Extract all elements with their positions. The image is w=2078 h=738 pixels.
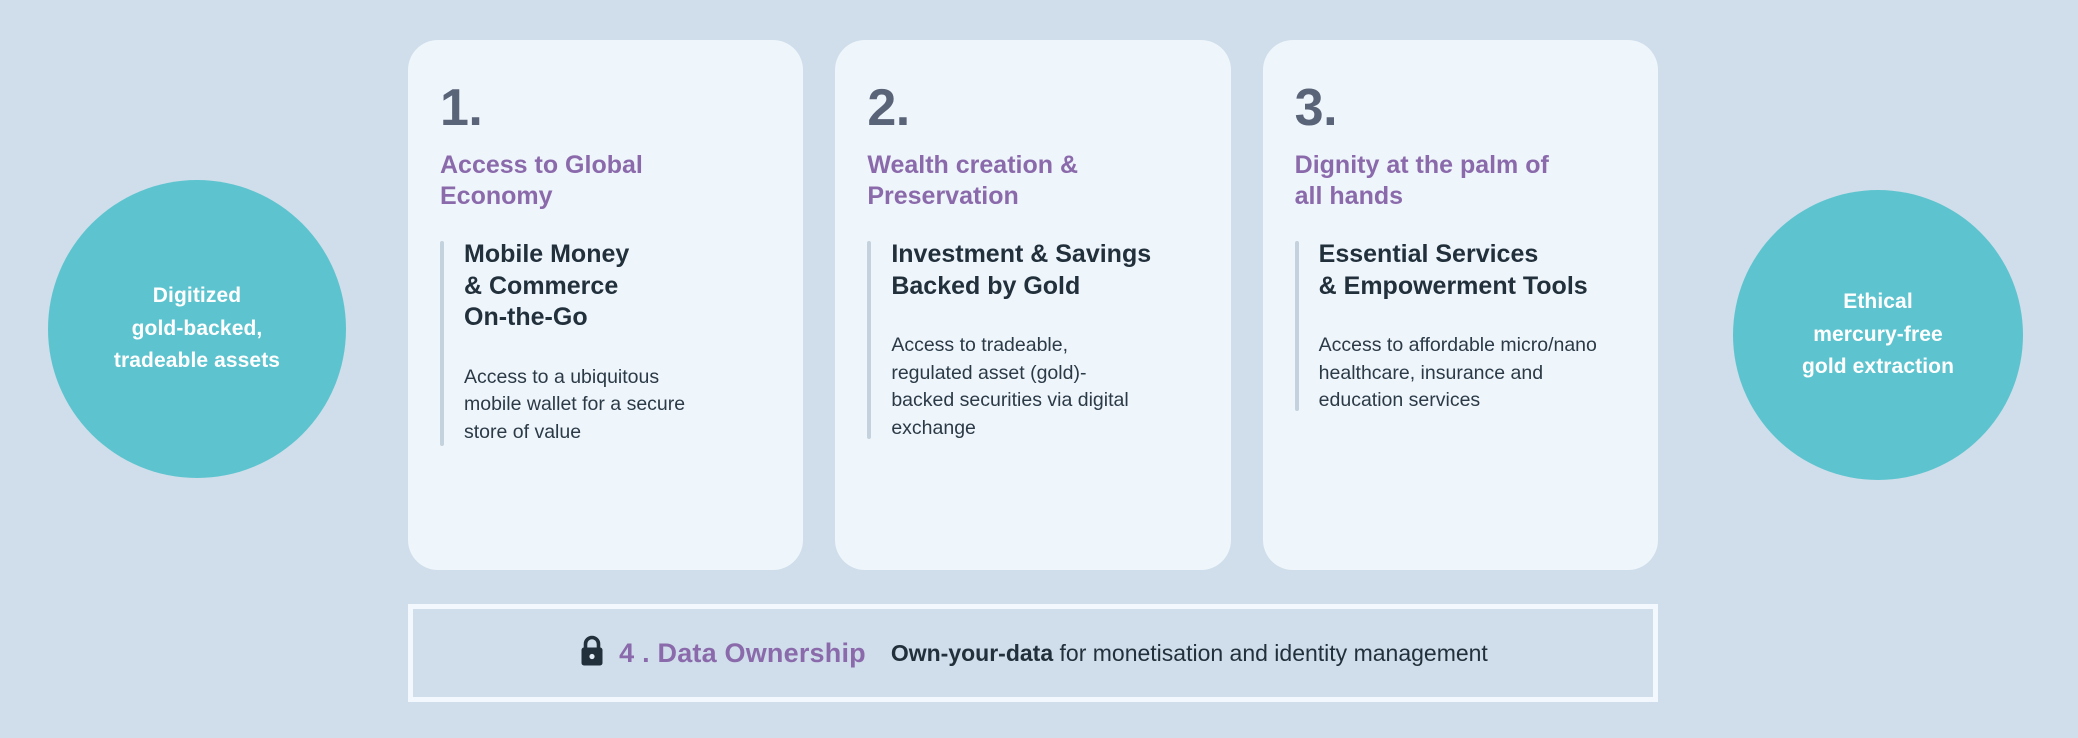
card-title: Access to Global Economy bbox=[440, 150, 767, 211]
card-body-description: Access to a ubiquitous mobile wallet for… bbox=[464, 364, 767, 447]
card-body-heading: Investment & Savings Backed by Gold bbox=[891, 239, 1194, 302]
data-ownership-text: Own-your-data for monetisation and ident… bbox=[891, 640, 1488, 667]
data-ownership-bar[interactable]: 4 . Data Ownership Own-your-data for mon… bbox=[408, 604, 1658, 702]
card-number: 2. bbox=[867, 82, 1194, 134]
card-body-description: Access to affordable micro/nano healthca… bbox=[1319, 332, 1622, 415]
left-circle-text: Digitized gold-backed, tradeable assets bbox=[114, 280, 280, 378]
vertical-accent-bar bbox=[867, 241, 871, 439]
pillar-card-3[interactable]: 3. Dignity at the palm of all hands Esse… bbox=[1263, 40, 1658, 570]
card-body: Investment & Savings Backed by Gold Acce… bbox=[867, 239, 1194, 443]
right-highlight-circle: Ethical mercury-free gold extraction bbox=[1733, 190, 2023, 480]
card-body-description: Access to tradeable, regulated asset (go… bbox=[891, 332, 1194, 443]
card-title: Wealth creation & Preservation bbox=[867, 150, 1194, 211]
data-ownership-text-bold: Own-your-data bbox=[891, 640, 1053, 666]
right-circle-text: Ethical mercury-free gold extraction bbox=[1802, 286, 1954, 384]
card-body: Essential Services & Empowerment Tools A… bbox=[1295, 239, 1622, 415]
left-highlight-circle: Digitized gold-backed, tradeable assets bbox=[48, 180, 346, 478]
pillar-card-2[interactable]: 2. Wealth creation & Preservation Invest… bbox=[835, 40, 1230, 570]
vertical-accent-bar bbox=[440, 241, 444, 446]
card-number: 3. bbox=[1295, 82, 1622, 134]
pillar-cards-container: 1. Access to Global Economy Mobile Money… bbox=[408, 40, 1658, 570]
lock-icon bbox=[578, 634, 606, 673]
card-title: Dignity at the palm of all hands bbox=[1295, 150, 1622, 211]
data-ownership-label: 4 . Data Ownership bbox=[619, 638, 866, 669]
data-ownership-text-rest: for monetisation and identity management bbox=[1053, 640, 1488, 666]
card-body-heading: Essential Services & Empowerment Tools bbox=[1319, 239, 1622, 302]
card-body-heading: Mobile Money & Commerce On-the-Go bbox=[464, 239, 767, 334]
data-ownership-bar-content: 4 . Data Ownership Own-your-data for mon… bbox=[578, 634, 1488, 673]
pillar-card-1[interactable]: 1. Access to Global Economy Mobile Money… bbox=[408, 40, 803, 570]
card-body: Mobile Money & Commerce On-the-Go Access… bbox=[440, 239, 767, 447]
vertical-accent-bar bbox=[1295, 241, 1299, 411]
card-number: 1. bbox=[440, 82, 767, 134]
